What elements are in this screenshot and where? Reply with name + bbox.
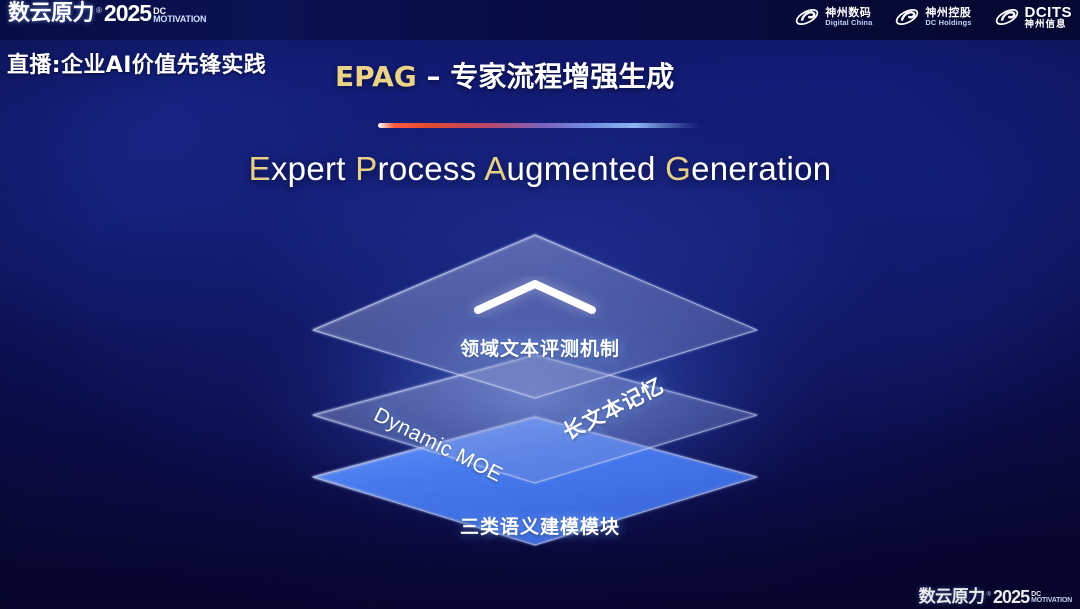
title-divider xyxy=(378,123,700,128)
layer-label-middle-left: Dynamic MOE xyxy=(370,403,507,487)
page-title: EPAG – 专家流程增强生成 xyxy=(335,55,674,95)
subtitle-cap-e: E xyxy=(249,150,271,187)
layer-label-middle-right: 长文本记忆 xyxy=(557,370,669,447)
partner-text-dcits: DCITS 神州信息 xyxy=(1025,5,1073,30)
subtitle-cap-p: P xyxy=(355,150,377,187)
partner-logo-dcits: DCITS 神州信息 xyxy=(994,4,1073,30)
footer-brand-registered-mark: ® xyxy=(987,592,991,606)
partner-logo-dc-holdings: 神州控股 DC Holdings xyxy=(894,4,971,30)
brand-logo-top: 数云原力 ® 2025 DC MOTIVATION xyxy=(8,2,206,25)
footer-brand-dc-motivation: DC MOTIVATION xyxy=(1031,592,1072,606)
partner-name-cn: 神州信息 xyxy=(1025,20,1073,30)
subtitle-cap-a: A xyxy=(484,150,506,187)
layer-label-top: 领域文本评测机制 xyxy=(0,334,1080,361)
swirl-icon xyxy=(894,4,920,30)
subtitle-rest-augmented: ugmented xyxy=(507,150,666,187)
title-acronym: EPAG xyxy=(335,60,417,93)
swirl-icon xyxy=(994,4,1020,30)
title-separator: – xyxy=(417,60,451,93)
footer-brand-year: 2025 xyxy=(993,588,1029,606)
slide-canvas: 数云原力 ® 2025 DC MOTIVATION 直播:企业AI价值先锋实践 … xyxy=(0,0,1080,609)
page-subtitle: Expert Process Augmented Generation xyxy=(0,150,1080,188)
brand-name-cn: 数云原力 xyxy=(8,3,94,25)
brand-dc-motivation: DC MOTIVATION xyxy=(153,7,206,25)
title-chinese: 专家流程增强生成 xyxy=(450,60,674,93)
partner-text-digital-china: 神州数码 Digital China xyxy=(825,7,872,26)
partner-logo-digital-china: 神州数码 Digital China xyxy=(794,4,872,30)
subtitle-cap-g: G xyxy=(665,150,691,187)
partner-name-en: Digital China xyxy=(825,19,872,27)
subtitle-rest-expert: xpert xyxy=(271,150,355,187)
partner-logo-group: 神州数码 Digital China 神州控股 DC Holdings DCIT… xyxy=(794,4,1072,30)
brand-motivation-label: MOTIVATION xyxy=(153,15,206,24)
subtitle-rest-generation: eneration xyxy=(691,150,831,187)
stack-ambient-glow xyxy=(235,250,835,550)
subtitle-rest-process: rocess xyxy=(378,150,485,187)
layer-middle xyxy=(313,355,757,483)
swirl-icon xyxy=(794,4,820,30)
layer-label-bottom: 三类语义建模模块 xyxy=(0,512,1080,539)
footer-brand-name-cn: 数云原力 xyxy=(919,589,985,606)
partner-name-en: DCITS xyxy=(1025,5,1073,20)
chevron-up-icon xyxy=(478,284,592,310)
brand-year: 2025 xyxy=(104,2,151,25)
footer-brand-motivation-label: MOTIVATION xyxy=(1031,598,1072,605)
layer-top xyxy=(313,235,757,398)
partner-name-en: DC Holdings xyxy=(925,19,971,27)
brand-registered-mark: ® xyxy=(96,7,102,25)
layer-bottom xyxy=(313,417,757,545)
partner-text-dc-holdings: 神州控股 DC Holdings xyxy=(925,7,971,26)
footer-brand-watermark: 数云原力 ® 2025 DC MOTIVATION xyxy=(919,588,1072,606)
live-broadcast-title: 直播:企业AI价值先锋实践 xyxy=(7,47,266,79)
